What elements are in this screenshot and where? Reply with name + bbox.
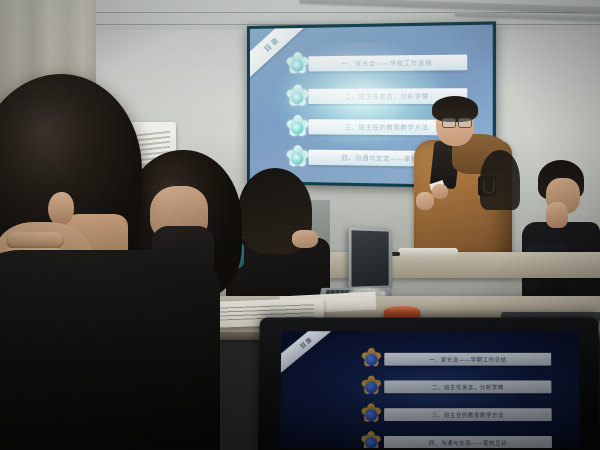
presenter-hand-left xyxy=(416,192,434,210)
mid-laptop-lid xyxy=(349,227,393,291)
flower-ornament-icon xyxy=(360,432,382,448)
laptop-agenda-row: 四、沟通与交流——家校互动 xyxy=(358,436,558,448)
laptop-agenda-text: 一、家长会——学期工作总结 xyxy=(429,355,506,363)
foreground-laptop-bezel: 目录 一、家长会——学期工作总结 xyxy=(258,318,600,450)
laptop-agenda-list: 一、家长会——学期工作总结 二、班主任发言，分析学情 xyxy=(358,353,558,448)
laptop-slide-corner-ribbon-label: 目录 xyxy=(298,335,314,351)
flower-ornament-icon xyxy=(284,85,310,111)
laptop-slide: 目录 一、家长会——学期工作总结 xyxy=(280,331,580,448)
flower-ornament-icon xyxy=(284,52,310,79)
presenter-hand-right xyxy=(432,184,448,199)
whiteboard-marker-tray xyxy=(398,248,458,257)
laptop-agenda-text: 三、班主任的教育教学方法 xyxy=(432,411,504,419)
flower-ornament-icon xyxy=(360,404,382,426)
slide-agenda-text: 一、家长会——学校工作总结 xyxy=(341,58,432,68)
laptop-agenda-bar: 一、家长会——学期工作总结 xyxy=(384,353,551,366)
eyeglasses-icon xyxy=(442,118,472,127)
slide-agenda-bar: 一、家长会——学校工作总结 xyxy=(308,55,467,72)
foreground-student-ear xyxy=(48,192,74,226)
foreground-student-body xyxy=(0,250,220,450)
laptop-agenda-bar: 四、沟通与交流——家校互动 xyxy=(384,436,552,448)
laptop-agenda-bar: 二、班主任发言，分析学情 xyxy=(384,380,551,393)
laptop-agenda-row: 一、家长会——学期工作总结 xyxy=(358,353,557,368)
laptop-slide-corner-ribbon: 目录 xyxy=(280,331,344,375)
background-person xyxy=(480,150,520,210)
foreground-laptop[interactable]: 目录 一、家长会——学期工作总结 xyxy=(258,316,600,450)
foreground-laptop-screen[interactable]: 目录 一、家长会——学期工作总结 xyxy=(280,331,580,448)
classroom-photo-scene: 目录 一、家长会——学校工作总结 二、班主任发言，分析学情 xyxy=(0,0,600,450)
slide-agenda-row: 一、家长会——学校工作总结 xyxy=(284,54,474,73)
flower-ornament-icon xyxy=(360,349,382,371)
laptop-agenda-row: 二、班主任发言，分析学情 xyxy=(358,380,557,395)
laptop-agenda-text: 二、班主任发言，分析学情 xyxy=(432,383,504,391)
laptop-agenda-bar: 三、班主任的教育教学方法 xyxy=(384,408,552,421)
flower-ornament-icon xyxy=(284,115,310,141)
right-student-hand xyxy=(546,202,568,228)
flower-ornament-icon xyxy=(360,377,382,399)
laptop-agenda-row: 三、班主任的教育教学方法 xyxy=(358,408,558,423)
mid-student-hand xyxy=(292,230,318,248)
slide-corner-ribbon-label: 目录 xyxy=(262,34,282,54)
laptop-agenda-text: 四、沟通与交流——家校互动 xyxy=(429,439,507,447)
